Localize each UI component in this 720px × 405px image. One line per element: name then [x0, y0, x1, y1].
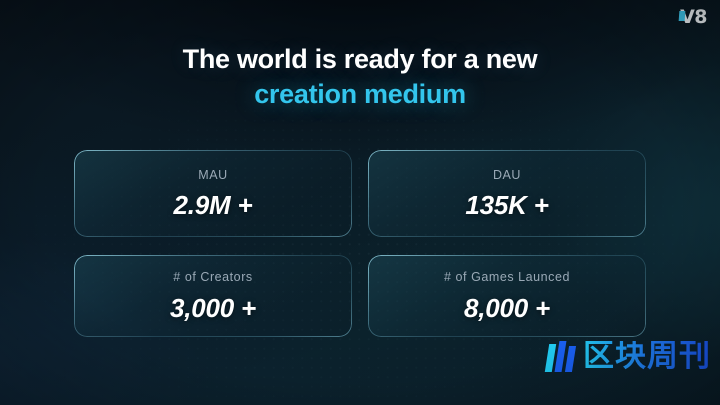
stat-value: 3,000 +	[170, 295, 256, 321]
stat-value: 135K +	[465, 192, 548, 218]
headline-line-2: creation medium	[0, 79, 720, 111]
stat-card-creators: # of Creators 3,000 +	[74, 255, 352, 337]
stat-card-dau: DAU 135K +	[368, 150, 646, 237]
stat-label: DAU	[493, 169, 521, 182]
bar-chart-icon	[547, 341, 574, 372]
v8-logo: V8	[678, 7, 707, 29]
stat-label: # of Games Launced	[444, 271, 570, 284]
stat-value: 2.9M +	[173, 192, 252, 218]
stat-card-games-launched: # of Games Launced 8,000 +	[368, 255, 646, 337]
watermark-logo: 区块周刊	[547, 341, 711, 372]
stat-card-mau: MAU 2.9M +	[74, 150, 352, 237]
page-title: The world is ready for a new creation me…	[0, 44, 720, 111]
stat-value: 8,000 +	[464, 295, 550, 321]
stat-label: MAU	[198, 169, 227, 182]
headline-line-1: The world is ready for a new	[0, 44, 720, 76]
v8-accent-block	[679, 11, 686, 21]
stats-grid: MAU 2.9M + DAU 135K + # of Creators 3,00…	[74, 150, 646, 337]
bar-3	[565, 346, 576, 372]
slide-canvas: V8 The world is ready for a new creation…	[0, 0, 720, 405]
stat-label: # of Creators	[173, 271, 252, 284]
watermark-text: 区块周刊	[583, 341, 711, 372]
v8-logo-wrap: V8	[678, 8, 707, 28]
